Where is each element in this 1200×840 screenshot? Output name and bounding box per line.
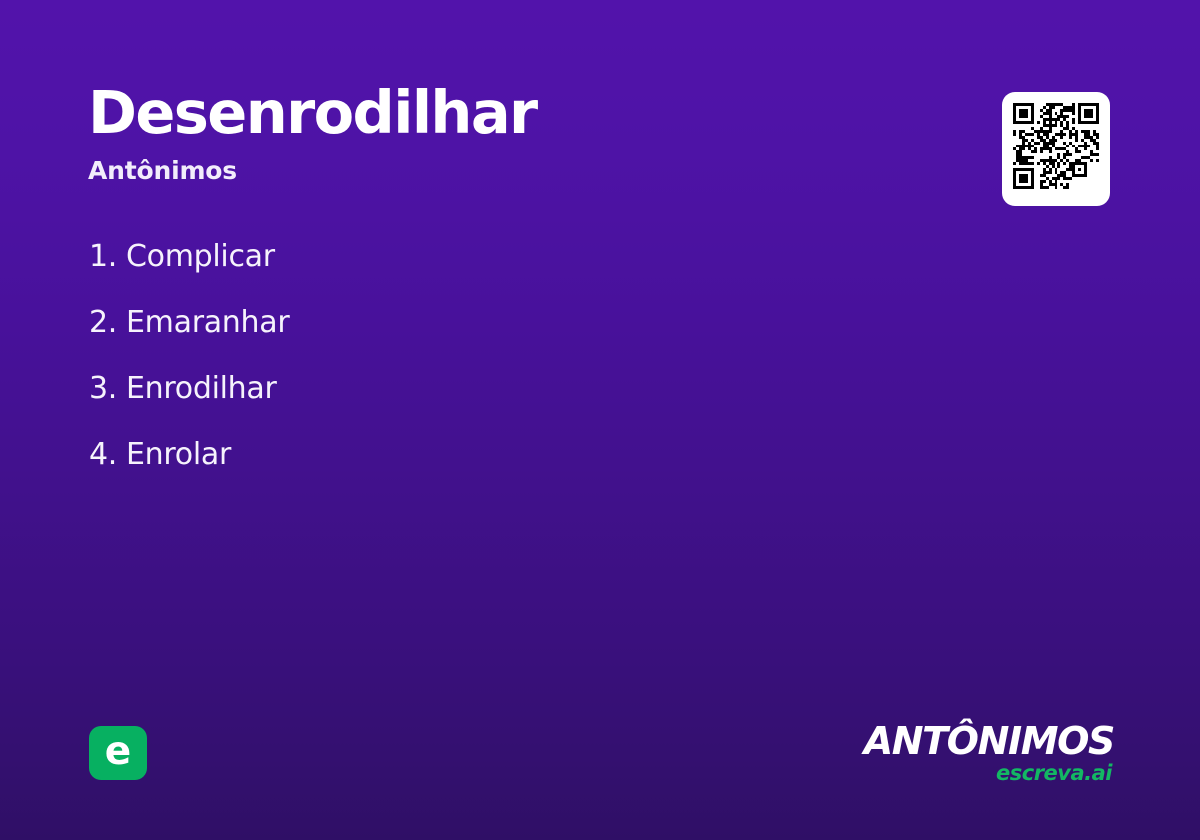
list-item-label: Enrolar: [126, 437, 231, 472]
list-item-label: Complicar: [126, 239, 275, 274]
logo-letter: e: [105, 732, 131, 771]
page-subtitle: Antônimos: [88, 156, 908, 185]
brand-lockup: ANTÔNIMOS escreva.ai: [864, 722, 1114, 784]
escreva-logo-badge[interactable]: e: [89, 726, 147, 780]
list-item-number: 2.: [89, 305, 117, 340]
antonym-list: 1.Complicar 2.Emaranhar 3.Enrodilhar 4.E…: [89, 233, 789, 497]
brand-name: ANTÔNIMOS: [864, 722, 1114, 760]
list-item: 2.Emaranhar: [89, 299, 789, 365]
list-item: 4.Enrolar: [89, 431, 789, 497]
word-card: Desenrodilhar Antônimos 1.Complicar 2.Em…: [0, 0, 1200, 840]
brand-sub: escreva.ai: [864, 763, 1114, 784]
qr-code-container[interactable]: [1002, 92, 1110, 206]
list-item: 1.Complicar: [89, 233, 789, 299]
list-item-label: Enrodilhar: [126, 371, 276, 406]
header: Desenrodilhar Antônimos: [88, 82, 908, 185]
list-item-label: Emaranhar: [126, 305, 289, 340]
page-title: Desenrodilhar: [88, 82, 908, 143]
list-item: 3.Enrodilhar: [89, 365, 789, 431]
list-item-number: 3.: [89, 371, 117, 406]
list-item-number: 4.: [89, 437, 117, 472]
list-item-number: 1.: [89, 239, 117, 274]
qr-code-icon: [1013, 103, 1099, 189]
